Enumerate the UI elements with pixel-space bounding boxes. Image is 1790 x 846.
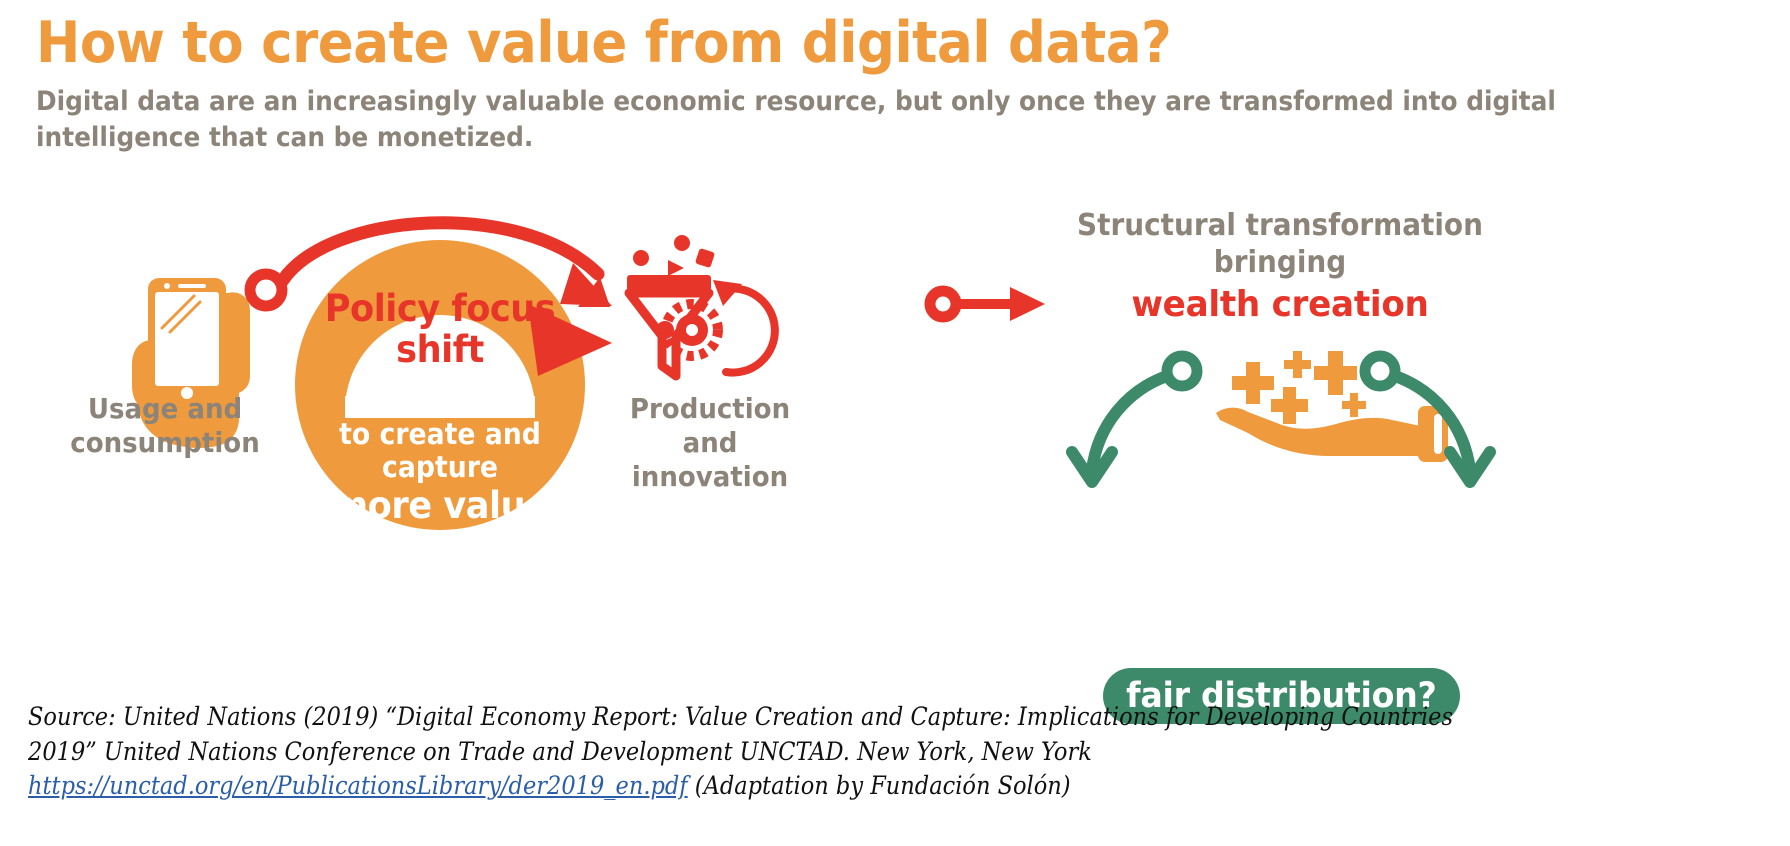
transition-arrow bbox=[930, 287, 1045, 321]
cycle-caption: to create and capture more value bbox=[280, 418, 600, 526]
right-node-label: Production and innovation bbox=[608, 392, 813, 494]
outcome-highlight: wealth creation bbox=[1071, 283, 1489, 326]
source-line-1: Source: United Nations (2019) “Digital E… bbox=[28, 700, 1594, 735]
infographic-diagram: Usage and consumption Production and inn… bbox=[0, 180, 1790, 590]
source-line-3: https://unctad.org/en/PublicationsLibrar… bbox=[28, 769, 1594, 804]
policy-focus-headline: Policy focus shift bbox=[290, 288, 590, 371]
source-url-link[interactable]: https://unctad.org/en/PublicationsLibrar… bbox=[28, 771, 688, 800]
left-node-label-line1: Usage and bbox=[67, 392, 262, 426]
policy-headline-line2: shift bbox=[298, 329, 583, 370]
diagram-artwork bbox=[0, 180, 1790, 590]
source-citation: Source: United Nations (2019) “Digital E… bbox=[28, 700, 1594, 804]
right-node-label-line1: Production and bbox=[608, 392, 813, 460]
hand-with-sparkles-icon bbox=[1216, 351, 1448, 462]
funnel-gear-icon bbox=[627, 235, 775, 376]
right-node-label-line2: innovation bbox=[608, 460, 813, 494]
cycle-caption-line2: more value bbox=[288, 485, 592, 526]
outcome-caption-line2: bringing bbox=[1075, 245, 1484, 282]
source-line-2: 2019” United Nations Conference on Trade… bbox=[28, 735, 1594, 770]
cycle-caption-line1: to create and capture bbox=[293, 418, 587, 485]
policy-headline-line1: Policy focus bbox=[298, 288, 583, 329]
source-adaptation-note: (Adaptation by Fundación Solón) bbox=[688, 771, 1071, 800]
left-node-label-line2: consumption bbox=[67, 426, 262, 460]
outcome-caption-line1: Structural transformation bbox=[1075, 208, 1484, 245]
page-subtitle: Digital data are an increasingly valuabl… bbox=[36, 84, 1582, 157]
left-node-label: Usage and consumption bbox=[67, 392, 262, 460]
outcome-caption: Structural transformation bringing wealt… bbox=[1060, 208, 1500, 326]
header-block: How to create value from digital data? D… bbox=[36, 14, 1766, 157]
page-title: How to create value from digital data? bbox=[36, 14, 1645, 74]
